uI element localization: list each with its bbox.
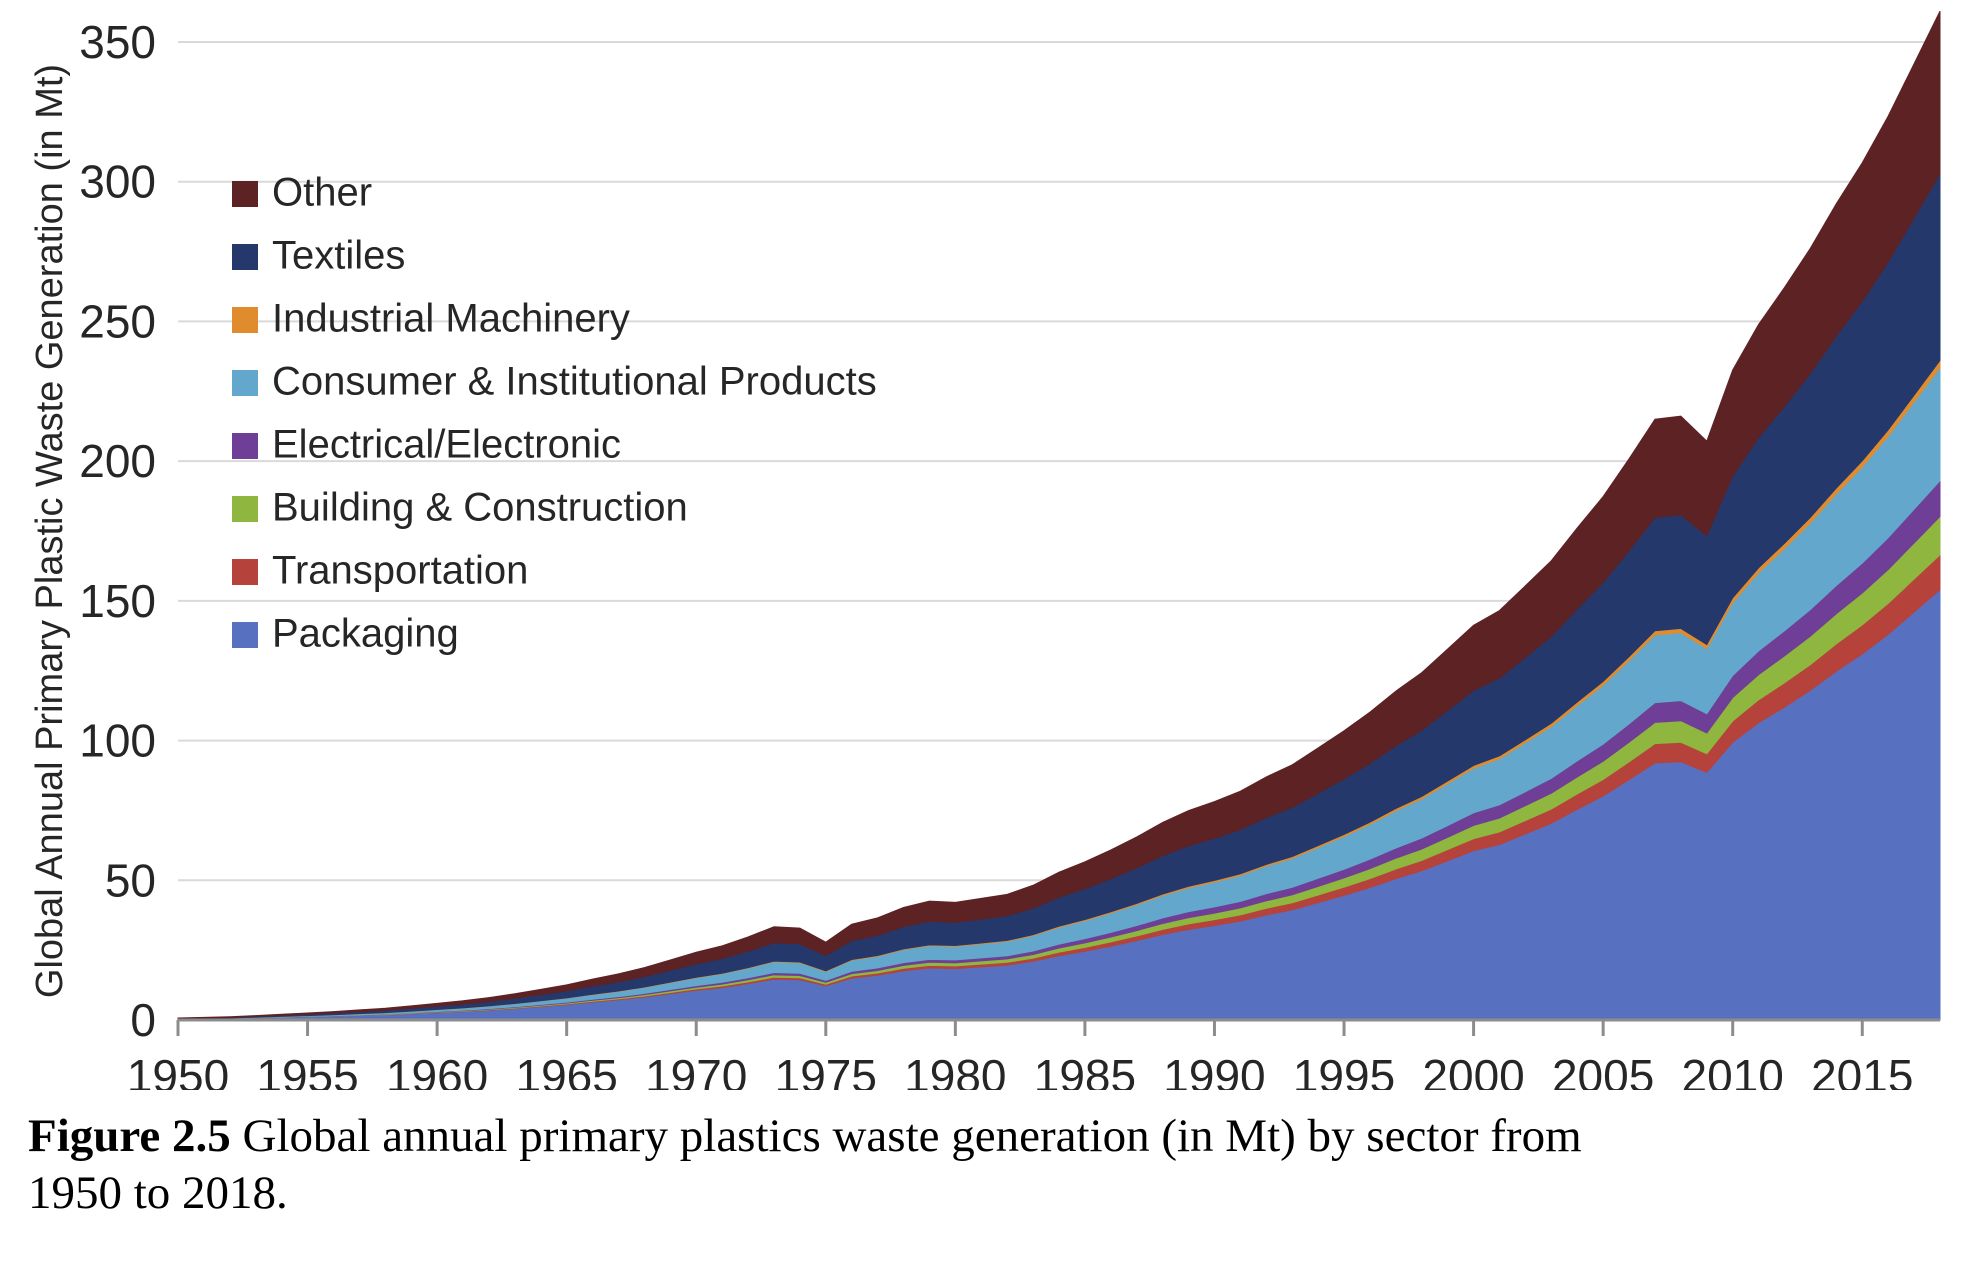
y-axis-tick-label: 350 (79, 16, 156, 68)
x-axis-tick-label: 1950 (127, 1050, 229, 1090)
x-axis-tick-label: 1970 (645, 1050, 747, 1090)
x-axis-tick-label: 1995 (1293, 1050, 1395, 1090)
caption-text-line2: 1950 to 2018. (28, 1165, 1968, 1222)
y-axis-title-text: Global Annual Primary Plastic Waste Gene… (29, 64, 71, 998)
legend-label: Industrial Machinery (272, 297, 630, 341)
x-axis-tick-label: 2000 (1422, 1050, 1524, 1090)
x-axis-tick-label: 1985 (1034, 1050, 1136, 1090)
legend-swatch (232, 244, 258, 270)
legend-swatch (232, 559, 258, 585)
y-axis-tick-label: 0 (130, 994, 156, 1046)
axes-group (178, 1020, 1940, 1036)
y-axis-tick-labels: 050100150200250300350 (79, 16, 156, 1046)
legend-label: Building & Construction (272, 486, 688, 530)
legend-swatch (232, 370, 258, 396)
y-axis-tick-label: 250 (79, 295, 156, 347)
y-axis-tick-label: 300 (79, 156, 156, 208)
legend-label: Consumer & Institutional Products (272, 360, 877, 404)
chart-legend: OtherTextilesIndustrial MachineryConsume… (232, 171, 877, 656)
legend-label: Transportation (272, 549, 528, 593)
legend-swatch (232, 622, 258, 648)
x-axis-tick-label: 1960 (386, 1050, 488, 1090)
x-axis-tick-label: 1955 (256, 1050, 358, 1090)
legend-swatch (232, 433, 258, 459)
y-axis-title: Global Annual Primary Plastic Waste Gene… (29, 64, 71, 998)
x-axis-tick-label: 2015 (1811, 1050, 1913, 1090)
y-axis-tick-label: 50 (105, 854, 156, 906)
x-axis-tick-label: 1990 (1163, 1050, 1265, 1090)
x-axis-tick-label: 1965 (516, 1050, 618, 1090)
x-axis-tick-labels: 1950195519601965197019751980198519901995… (127, 1050, 1914, 1090)
x-axis-tick-label: 1975 (775, 1050, 877, 1090)
y-axis-tick-label: 100 (79, 715, 156, 767)
caption-text: Global annual primary plastics waste gen… (243, 1110, 1582, 1162)
legend-swatch (232, 307, 258, 333)
y-axis-tick-label: 150 (79, 575, 156, 627)
figure-caption: Figure 2.5 Global annual primary plastic… (28, 1108, 1968, 1223)
y-axis-tick-label: 200 (79, 435, 156, 487)
caption-label: Figure 2.5 (28, 1110, 231, 1162)
x-axis-tick-label: 2005 (1552, 1050, 1654, 1090)
chart-svg: 050100150200250300350 195019551960196519… (0, 0, 1988, 1090)
x-axis-tick-label: 1980 (904, 1050, 1006, 1090)
legend-label: Packaging (272, 612, 459, 656)
stacked-area-chart: 050100150200250300350 195019551960196519… (0, 0, 1988, 1090)
legend-swatch (232, 496, 258, 522)
figure-container: 050100150200250300350 195019551960196519… (0, 0, 1988, 1278)
legend-label: Textiles (272, 234, 405, 278)
legend-label: Other (272, 171, 372, 215)
legend-swatch (232, 181, 258, 207)
legend-label: Electrical/Electronic (272, 423, 621, 467)
x-axis-tick-label: 2010 (1682, 1050, 1784, 1090)
